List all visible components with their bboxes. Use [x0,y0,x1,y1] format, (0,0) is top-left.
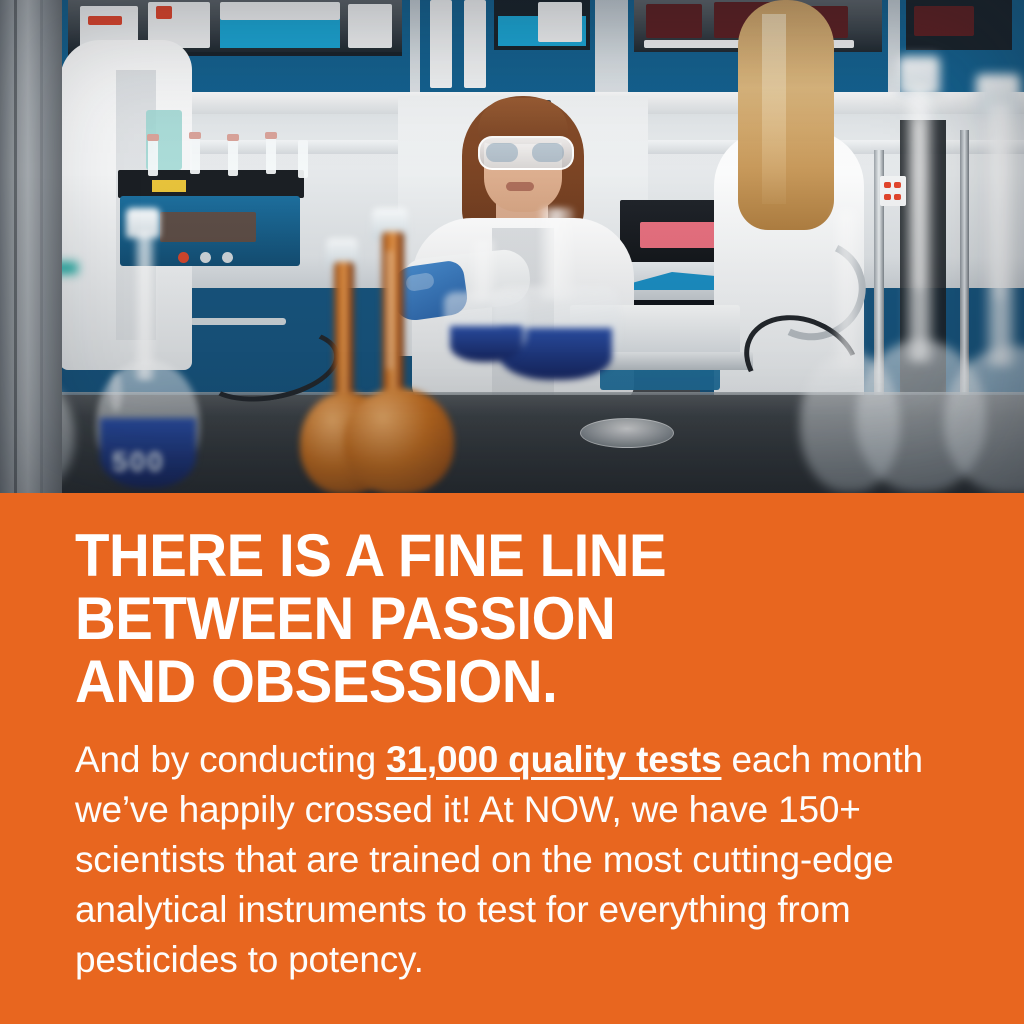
stat-emphasis: 31,000 quality tests [386,739,721,780]
photo-vignette [0,0,1024,493]
social-post-card: 500 [0,0,1024,1024]
body-copy: And by conducting 31,000 quality tests e… [75,735,955,985]
page-title: THERE IS A FINE LINE BETWEEN PASSION AND… [75,524,921,713]
lab-photo: 500 [0,0,1024,493]
body-text-before: And by conducting [75,739,386,780]
